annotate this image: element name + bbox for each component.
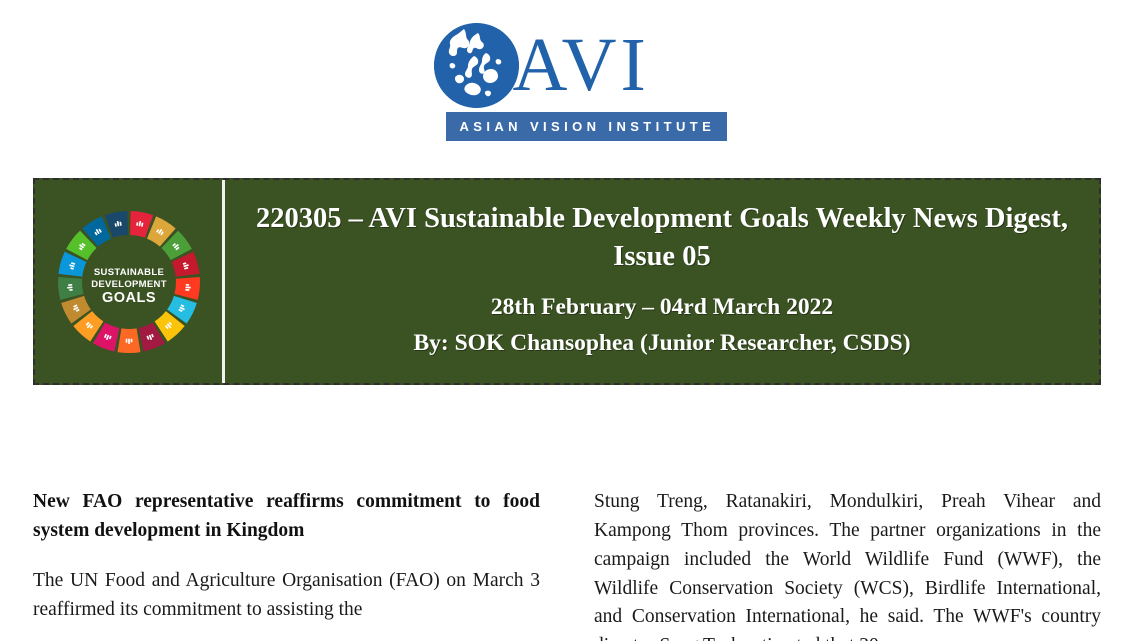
masthead: AVI ASIAN VISION INSTITUTE	[0, 0, 1133, 160]
banner-text-area: 220305 – AVI Sustainable Development Goa…	[225, 180, 1099, 383]
column-right: Stung Treng, Ratanakiri, Mondulkiri, Pre…	[594, 488, 1101, 641]
article-paragraph: Stung Treng, Ratanakiri, Mondulkiri, Pre…	[594, 488, 1101, 641]
article-columns: New FAO representative reaffirms commitm…	[33, 488, 1101, 641]
column-left: New FAO representative reaffirms commitm…	[33, 488, 540, 641]
banner-logo-area: SUSTAINABLE DEVELOPMENT GOALS	[35, 180, 225, 383]
avi-logo: AVI ASIAN VISION INSTITUTE	[434, 22, 700, 141]
digest-date-range: 28th February – 04rd March 2022	[491, 292, 833, 323]
digest-byline: By: SOK Chansophea (Junior Researcher, C…	[413, 328, 910, 359]
article-heading: New FAO representative reaffirms commitm…	[33, 488, 540, 546]
globe-icon	[434, 23, 519, 108]
organization-name-band: ASIAN VISION INSTITUTE	[446, 112, 728, 141]
logo-row: AVI	[434, 22, 650, 108]
svg-text:DEVELOPMENT: DEVELOPMENT	[91, 279, 167, 290]
avi-wordmark: AVI	[513, 27, 650, 103]
svg-text:GOALS: GOALS	[101, 290, 155, 306]
sdg-wheel-icon: SUSTAINABLE DEVELOPMENT GOALS	[54, 207, 204, 357]
title-banner: SUSTAINABLE DEVELOPMENT GOALS 220305 – A…	[33, 178, 1101, 385]
article-paragraph: The UN Food and Agriculture Organisation…	[33, 567, 540, 625]
svg-text:SUSTAINABLE: SUSTAINABLE	[93, 267, 163, 278]
digest-title: 220305 – AVI Sustainable Development Goa…	[247, 200, 1077, 276]
